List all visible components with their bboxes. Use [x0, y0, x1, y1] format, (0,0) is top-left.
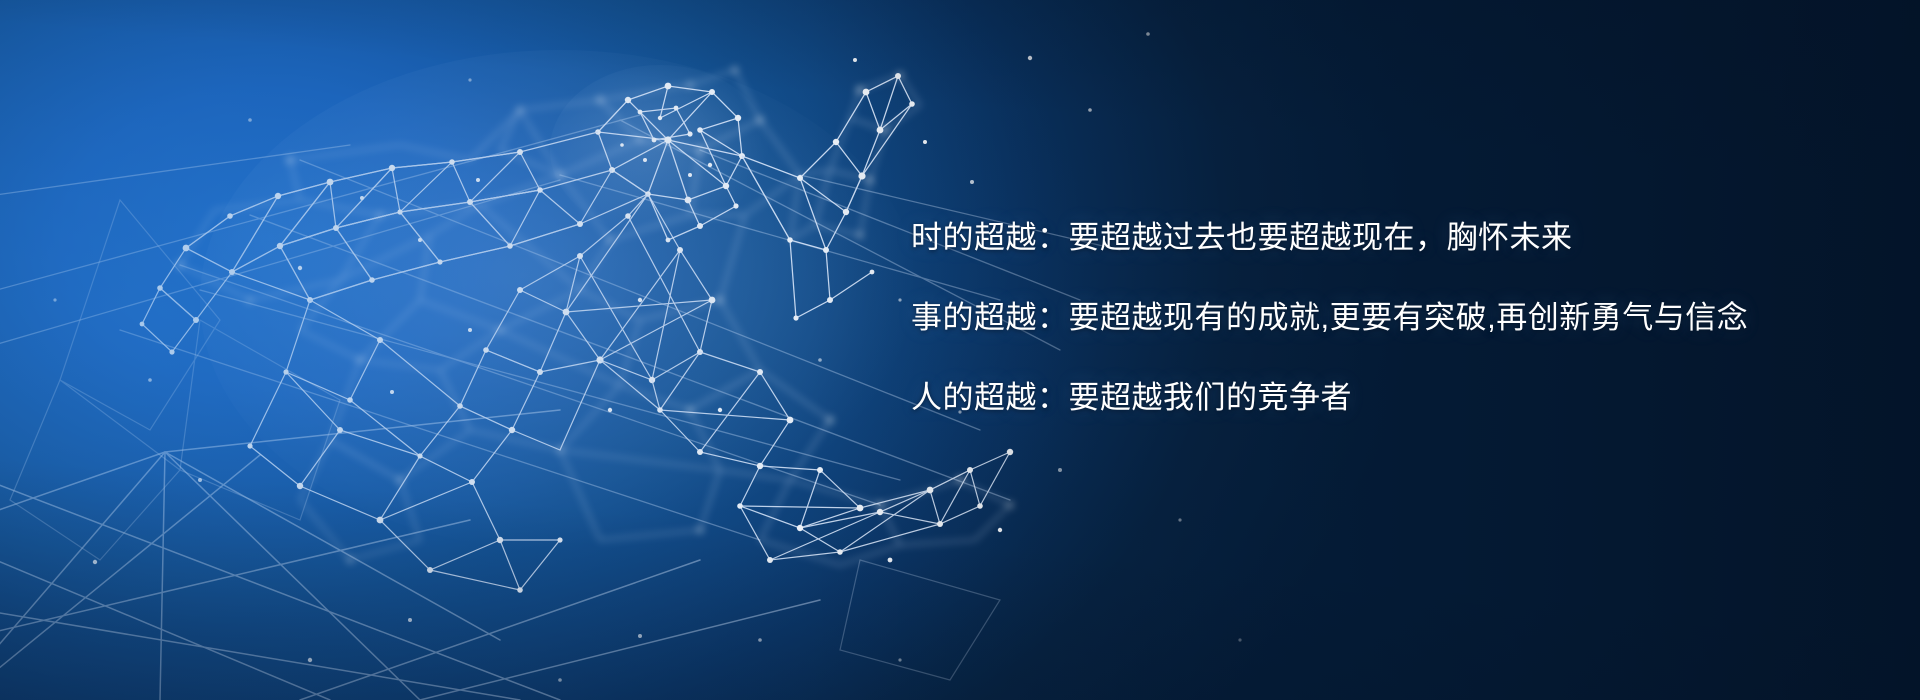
slogan-line-time: 时的超越：要超越过去也要超越现在，胸怀未来	[911, 222, 1811, 253]
slogan-line-achievement: 事的超越：要超越现有的成就,更要有突破,再创新勇气与信念	[911, 302, 1811, 333]
slogan-line-people: 人的超越：要超越我们的竞争者	[911, 382, 1811, 413]
hero-banner: 时的超越：要超越过去也要超越现在，胸怀未来 事的超越：要超越现有的成就,更要有突…	[0, 0, 1920, 700]
slogan-text-block: 时的超越：要超越过去也要超越现在，胸怀未来 事的超越：要超越现有的成就,更要有突…	[911, 222, 1811, 413]
